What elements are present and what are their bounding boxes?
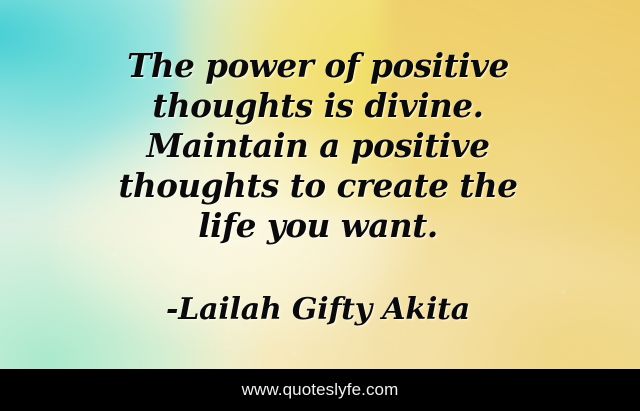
quote-attribution: -Lailah Gifty Akita (58, 292, 578, 328)
quote-line-1: The power of positive (58, 46, 578, 86)
quote-line-5: life you want. (58, 206, 578, 246)
quote-text-block: The power of positive thoughts is divine… (58, 46, 578, 246)
quote-line-4: thoughts to create the (58, 166, 578, 206)
quote-line-2: thoughts is divine. (58, 86, 578, 126)
website-url-label[interactable]: www.quoteslyfe.com (242, 380, 399, 400)
quote-line-3: Maintain a positive (58, 126, 578, 166)
footer-bar: www.quoteslyfe.com (0, 369, 640, 411)
quote-image-card: The power of positive thoughts is divine… (0, 0, 640, 411)
card-content: The power of positive thoughts is divine… (0, 0, 640, 411)
